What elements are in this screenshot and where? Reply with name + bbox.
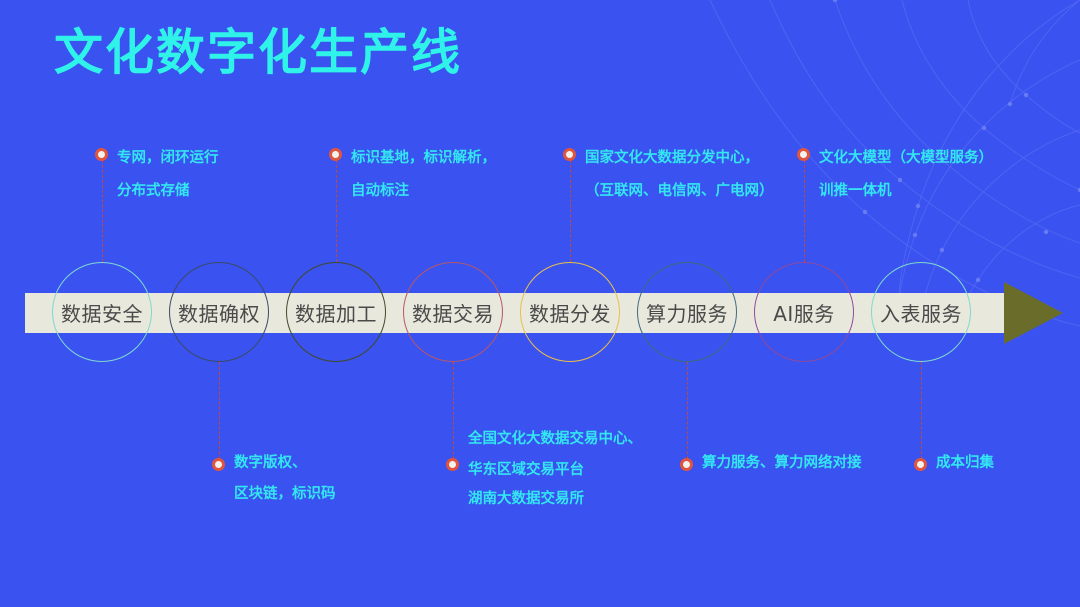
- pipeline-stage-data-processing[interactable]: 数据加工: [286, 262, 386, 362]
- pipeline-stage-ai-service[interactable]: AI服务: [754, 262, 854, 362]
- callout-line: 区块链，标识码: [234, 482, 336, 507]
- callout-line: 文化大模型（大模型服务）: [819, 146, 993, 171]
- callout-marker-icon[interactable]: [329, 148, 342, 161]
- callout-stem: [921, 362, 922, 464]
- pipeline-stage-data-rights[interactable]: 数据确权: [169, 262, 269, 362]
- pipeline-stage-label: 数据分发: [529, 298, 611, 327]
- callout-line: 国家文化大数据分发中心，: [585, 146, 759, 171]
- callout-marker-icon[interactable]: [914, 458, 927, 471]
- callout-line: 数字版权、: [234, 451, 307, 476]
- callout-stem: [219, 362, 220, 464]
- pipeline-stage-data-trading[interactable]: 数据交易: [403, 262, 503, 362]
- callout-line: 华东区域交易平台: [468, 458, 584, 483]
- pipeline-stage-label: 算力服务: [646, 298, 728, 327]
- callout-line: 分布式存储: [117, 179, 190, 204]
- callout-stem: [804, 160, 805, 262]
- callout-stem: [570, 160, 571, 262]
- pipeline-stage-label: 入表服务: [880, 298, 962, 327]
- page-title: 文化数字化生产线: [54, 28, 462, 77]
- pipeline-arrow-icon: [1004, 282, 1063, 344]
- callout-line: （互联网、电信网、广电网）: [585, 179, 774, 204]
- callout-marker-icon[interactable]: [446, 458, 459, 471]
- pipeline-stage-data-distribution[interactable]: 数据分发: [520, 262, 620, 362]
- callout-line: 湖南大数据交易所: [468, 487, 584, 512]
- callout-marker-icon[interactable]: [797, 148, 810, 161]
- pipeline-stage-label: 数据交易: [412, 298, 494, 327]
- callout-line: 成本归集: [936, 451, 994, 476]
- callout-marker-icon[interactable]: [563, 148, 576, 161]
- callout-line: 全国文化大数据交易中心、: [468, 427, 642, 452]
- callout-marker-icon[interactable]: [212, 458, 225, 471]
- pipeline-stage-label: AI服务: [773, 298, 835, 327]
- callout-line: 自动标注: [351, 179, 409, 204]
- pipeline-stage-label: 数据确权: [178, 298, 260, 327]
- pipeline-stage-label: 数据安全: [61, 298, 143, 327]
- callout-line: 算力服务、算力网络对接: [702, 451, 862, 476]
- callout-marker-icon[interactable]: [95, 148, 108, 161]
- callout-line: 标识基地，标识解析，: [351, 146, 496, 171]
- slide-canvas: 文化数字化生产线 数据安全 数据确权 数据加工 数据交易 数据分发 算力服务 A…: [0, 0, 1080, 607]
- pipeline-stage-label: 数据加工: [295, 298, 377, 327]
- callout-stem: [336, 160, 337, 262]
- pipeline-stage-asset-listing-service[interactable]: 入表服务: [871, 262, 971, 362]
- pipeline-stage-compute-service[interactable]: 算力服务: [637, 262, 737, 362]
- callout-stem: [102, 160, 103, 262]
- callout-stem: [687, 362, 688, 464]
- callout-line: 训推一体机: [819, 179, 892, 204]
- callout-line: 专网，闭环运行: [117, 146, 219, 171]
- callout-stem: [453, 362, 454, 464]
- pipeline-stage-data-security[interactable]: 数据安全: [52, 262, 152, 362]
- callout-marker-icon[interactable]: [680, 458, 693, 471]
